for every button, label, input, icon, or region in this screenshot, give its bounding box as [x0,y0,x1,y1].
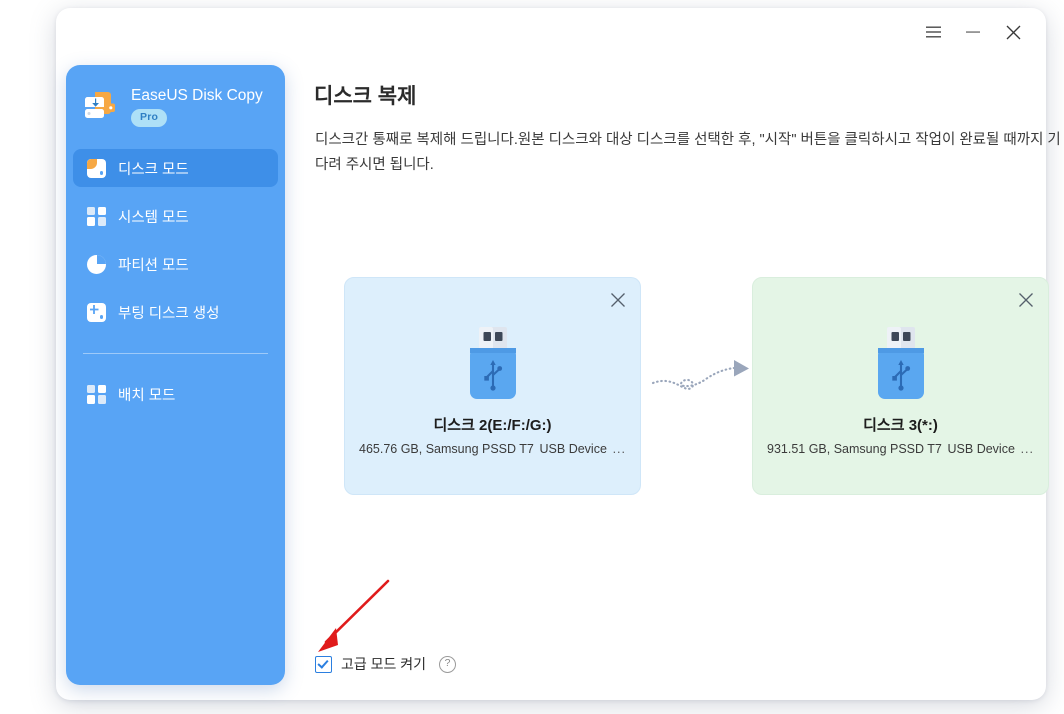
easeus-disk-copy-logo [84,90,122,124]
brand-text: EaseUS Disk Copy Pro [131,87,263,128]
partition-mode-icon [87,255,106,274]
target-disk-title: 디스크 3(*:) [753,414,1048,435]
batch-mode-icon [87,385,106,404]
usb-drive-icon [465,327,521,403]
source-disk-more[interactable]: ... [613,442,626,456]
page-description: 디스크간 통째로 복제해 드립니다.원본 디스크와 대상 디스크를 선택한 후,… [315,128,1064,178]
sidebar-item-bootable-disk[interactable]: 부팅 디스크 생성 [73,293,278,331]
sidebar-item-disk-mode[interactable]: 디스크 모드 [73,149,278,187]
disk-mode-icon [87,159,106,178]
source-disk-card[interactable]: 디스크 2(E:/F:/G:) 465.76 GB, Samsung PSSD … [344,277,641,495]
disk-selection-row: 디스크 2(E:/F:/G:) 465.76 GB, Samsung PSSD … [258,277,1046,502]
advanced-mode-label[interactable]: 고급 모드 켜기 [341,654,426,674]
sidebar-item-system-mode[interactable]: 시스템 모드 [73,197,278,235]
sidebar: EaseUS Disk Copy Pro 디스크 모드 시스템 모드 파티션 모… [66,65,285,685]
sidebar-item-label: 파티션 모드 [118,254,189,275]
sidebar-item-label: 디스크 모드 [118,158,189,179]
sidebar-item-partition-mode[interactable]: 파티션 모드 [73,245,278,283]
sidebar-item-batch-mode[interactable]: 배치 모드 [73,375,278,413]
main-content: 디스크 복제 디스크간 통째로 복제해 드립니다.원본 디스크와 대상 디스크를… [258,8,1046,700]
brand-name: EaseUS Disk Copy [131,87,263,105]
source-disk-meta: 465.76 GB, Samsung PSSD T7 USB Device ..… [359,442,626,456]
source-disk-capacity: 465.76 GB, Samsung PSSD T7 [359,442,534,456]
sidebar-divider [83,353,268,354]
target-disk-card[interactable]: 디스크 3(*:) 931.51 GB, Samsung PSSD T7 USB… [752,277,1049,495]
target-disk-meta: 931.51 GB, Samsung PSSD T7 USB Device ..… [767,442,1034,456]
advanced-mode-row: 고급 모드 켜기 ? [315,654,456,674]
dotted-arrow-icon [650,355,754,401]
close-icon [1018,292,1034,308]
target-disk-interface: USB Device [948,442,1015,456]
source-disk-interface: USB Device [540,442,607,456]
sidebar-item-label: 배치 모드 [118,384,175,405]
app-window: 디스크 복제 디스크간 통째로 복제해 드립니다.원본 디스크와 대상 디스크를… [56,8,1046,700]
close-icon [610,292,626,308]
bootable-disk-icon [87,303,106,322]
system-mode-icon [87,207,106,226]
remove-target-disk-button[interactable] [1014,288,1038,312]
usb-drive-icon [873,327,929,403]
sidebar-nav: 디스크 모드 시스템 모드 파티션 모드 부팅 디스크 생성 배치 모드 [66,149,285,413]
pro-badge: Pro [131,109,167,128]
question-mark-icon[interactable]: ? [439,656,456,673]
target-disk-capacity: 931.51 GB, Samsung PSSD T7 [767,442,942,456]
target-disk-more[interactable]: ... [1021,442,1034,456]
remove-source-disk-button[interactable] [606,288,630,312]
sidebar-item-label: 부팅 디스크 생성 [118,302,219,323]
brand: EaseUS Disk Copy Pro [66,65,285,121]
source-disk-title: 디스크 2(E:/F:/G:) [345,414,640,435]
advanced-mode-checkbox[interactable] [315,656,332,673]
page-title: 디스크 복제 [314,80,416,110]
sidebar-item-label: 시스템 모드 [118,206,189,227]
